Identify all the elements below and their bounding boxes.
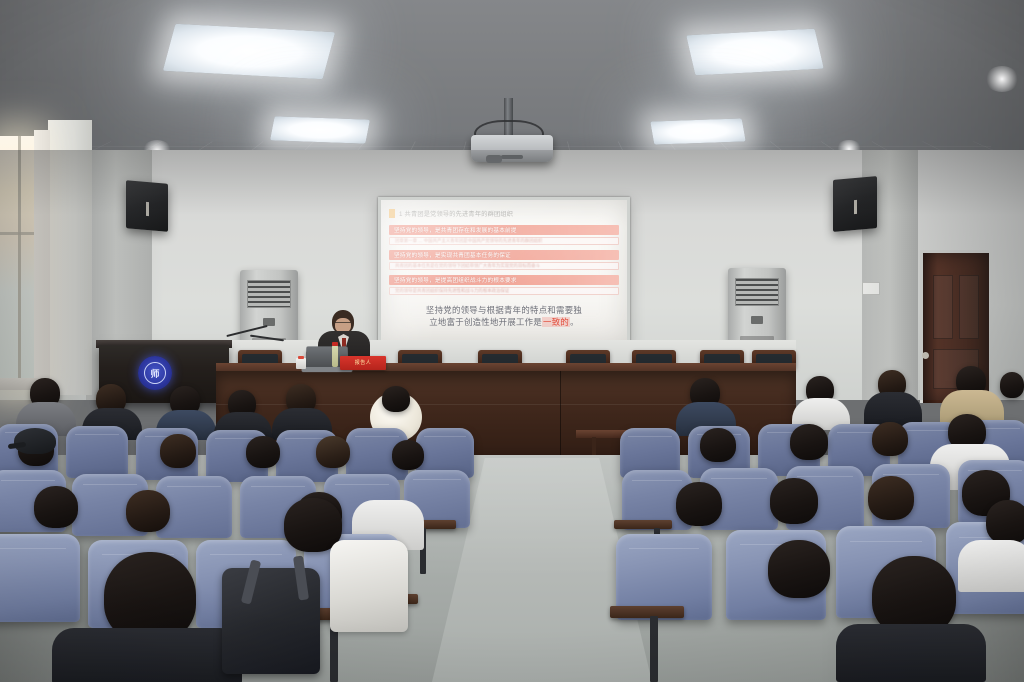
slide-conclusion: 坚持党的领导与根据青年的特点和需要独 立地富于创造性地开展工作是一致的。 — [389, 304, 619, 328]
speaker-slot — [854, 200, 857, 214]
audience-shoulders — [958, 540, 1024, 592]
slide-banner: 坚持党的领导，是实现共青团基本任务的保证 — [389, 250, 619, 260]
audience-head — [34, 486, 78, 528]
seat-crease — [628, 436, 671, 437]
seat-crease — [711, 478, 767, 479]
slide-banner-subtext-row: 共青团的基本任务是在党的领导下团结带领广大青年为实现党的目标而奋斗 — [389, 262, 619, 270]
seat-crease — [797, 476, 853, 477]
name-placard-text: 报告人 — [340, 356, 386, 370]
audience-head — [868, 476, 914, 520]
paper-cup — [296, 358, 306, 369]
slide-banner: 坚持党的领导，是提高团组织战斗力的根本要求 — [389, 275, 619, 285]
seat-crease — [907, 430, 952, 431]
seat-crease — [413, 479, 461, 480]
audience-head — [790, 424, 828, 460]
seat-crease — [632, 480, 682, 481]
left-wall-face — [48, 120, 92, 395]
water-bottle — [332, 345, 338, 367]
seat-crease — [83, 484, 138, 485]
slide-banner-subtext-row: 党的领导是共青团组织保持先进性和战斗力的根本政治保证 — [389, 287, 619, 295]
audience-head — [126, 490, 170, 532]
seat-armrest — [610, 606, 684, 618]
presentation-slide: 1 共青团是党领导的先进青年的群团组织 坚持党的领导，是共青团存在和发展的基本前… — [381, 200, 627, 344]
audience-head — [246, 436, 280, 468]
audience-head — [700, 428, 736, 462]
ac-vent — [247, 280, 291, 308]
audience-head — [768, 540, 830, 598]
glasses-icon — [335, 322, 351, 326]
audience-head — [392, 440, 424, 470]
ceiling-light-panel — [163, 24, 335, 79]
door-panel — [933, 275, 953, 339]
seat-crease — [167, 486, 222, 487]
projection-screen: 1 共青团是党领导的先进青年的群团组织 坚持党的领导，是共青团存在和发展的基本前… — [381, 200, 627, 344]
auditorium-seat[interactable] — [66, 426, 128, 478]
seat-crease — [1, 480, 56, 481]
audience-head — [872, 422, 908, 456]
audience-head — [1000, 372, 1024, 398]
window-mullion — [18, 136, 21, 388]
seat-armrest — [614, 520, 672, 529]
door-handle[interactable] — [922, 352, 929, 359]
window-transom — [0, 232, 36, 235]
ac-vent — [735, 278, 779, 306]
window — [0, 136, 36, 388]
crest-glyph: 师 — [144, 362, 166, 384]
seat-crease — [850, 541, 922, 542]
ceiling-light-panel — [650, 118, 745, 144]
slide-banner-heading: 坚持党的领导，是提高团组织战斗力的根本要求 — [394, 276, 517, 284]
ac-display — [751, 316, 763, 324]
name-placard: 报告人 — [340, 356, 386, 370]
bullet-square-icon — [389, 209, 395, 218]
white-jacket — [330, 540, 408, 632]
audience-shoulders — [836, 624, 986, 682]
seat-crease — [75, 434, 120, 435]
window-jamb — [34, 130, 50, 392]
projector-lens — [486, 155, 502, 163]
auditorium-seat[interactable] — [0, 534, 80, 622]
slide-banner-heading: 坚持党的领导，是实现共青团基本任务的保证 — [394, 251, 511, 259]
ceiling-light-panel — [270, 116, 370, 143]
audience-head — [316, 436, 350, 468]
audience-head — [986, 500, 1024, 544]
slide-banner-subtext: 团章第一章 … 中国共产主义青年团是中国共产党领导的先进青年的群团组织 — [395, 238, 542, 244]
wall-speaker-right — [833, 176, 877, 232]
audience-shoulders — [52, 628, 242, 682]
audience-head — [770, 478, 818, 524]
audience-head — [382, 386, 410, 412]
slide-banner-subtext-row: 团章第一章 … 中国共产主义青年团是中国共产党领导的先进青年的群团组织 — [389, 237, 619, 245]
seat-crease — [335, 484, 390, 485]
wall-speaker-left — [126, 180, 168, 232]
slide-banner: 坚持党的领导，是共青团存在和发展的基本前提 — [389, 225, 619, 235]
slide-title-row: 1 共青团是党领导的先进青年的群团组织 — [389, 207, 619, 220]
ceiling-light-panel — [686, 29, 824, 76]
slide-banner-subtext: 党的领导是共青团组织保持先进性和战斗力的根本政治保证 — [395, 288, 509, 294]
slide-conclusion-line-2: 立地富于创造性地开展工作是一致的。 — [389, 316, 619, 328]
audience-head — [160, 434, 196, 468]
slide-conclusion-line-1: 坚持党的领导与根据青年的特点和需要独 — [389, 304, 619, 316]
slide-banner-heading: 坚持党的领导，是共青团存在和发展的基本前提 — [394, 226, 517, 234]
ceiling-projector — [471, 135, 553, 162]
baseball-cap — [14, 428, 56, 454]
slide-title: 1 共青团是党领导的先进青年的群团组织 — [399, 209, 513, 218]
university-crest-icon: 师 — [138, 356, 172, 390]
seat-crease — [251, 486, 306, 487]
seat-crease — [355, 436, 400, 437]
slide-conclusion-suffix: 。 — [570, 317, 579, 327]
seat-crease — [424, 436, 466, 437]
door-panel — [959, 275, 979, 339]
slide-conclusion-highlight: 一致的 — [542, 317, 570, 327]
seat-crease — [629, 548, 698, 549]
ceiling-spotlight — [985, 66, 1019, 92]
seat-crease — [210, 554, 282, 555]
speaker-slot — [146, 202, 149, 216]
audience-shoulders — [864, 392, 922, 426]
lecture-hall-photo: 1 共青团是党领导的先进青年的群团组织 坚持党的领导，是共青团存在和发展的基本前… — [0, 0, 1024, 682]
table-divider — [560, 371, 561, 463]
seat-leg — [650, 616, 658, 682]
wall-notice — [862, 282, 880, 295]
bottle-cap — [332, 342, 338, 346]
slide-banner-subtext: 共青团的基本任务是在党的领导下团结带领广大青年为实现党的目标而奋斗 — [395, 263, 540, 269]
audience-head — [676, 482, 722, 526]
seat-crease — [0, 548, 66, 549]
slide-conclusion-prefix: 立地富于创造性地开展工作是 — [429, 317, 542, 327]
